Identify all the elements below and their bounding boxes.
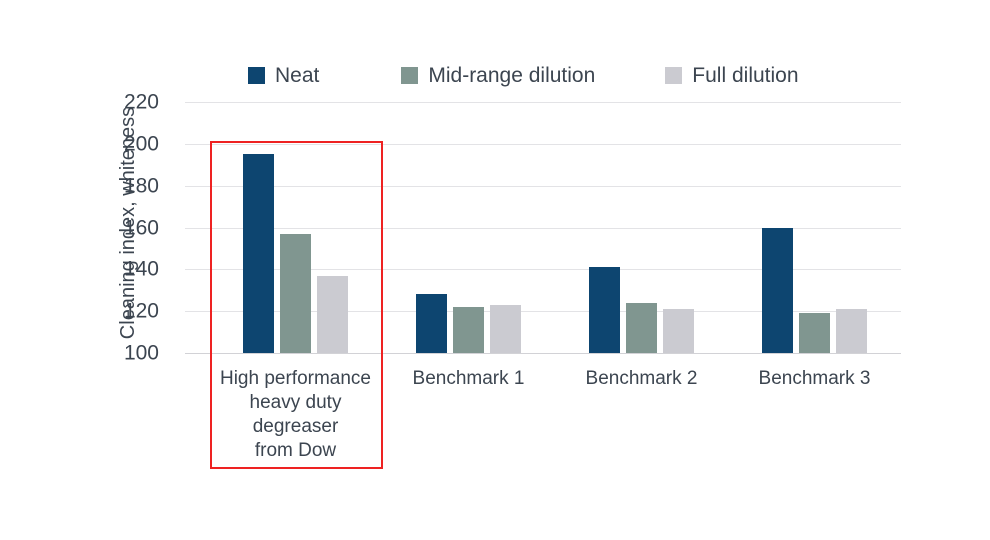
highlight-box-dow-product	[210, 141, 383, 469]
bar-neat-group-2	[416, 294, 447, 353]
bar-neat-group-3	[589, 267, 620, 353]
y-axis-title: Cleaning index, whiteness	[114, 78, 142, 368]
x-category-label-3: Benchmark 2	[547, 367, 737, 391]
x-category-label-line: Benchmark 2	[547, 367, 737, 391]
legend-label-neat: Neat	[275, 65, 319, 86]
bar-chart: Neat Mid-range dilution Full dilution Cl…	[0, 0, 990, 540]
bar-mid-range-dilution-group-2	[453, 307, 484, 353]
legend-item-neat: Neat	[248, 65, 319, 86]
x-category-label-line: Benchmark 3	[720, 367, 910, 391]
bar-full-dilution-group-4	[836, 309, 867, 353]
bar-mid-range-dilution-group-3	[626, 303, 657, 353]
chart-legend: Neat Mid-range dilution Full dilution	[248, 60, 799, 90]
x-category-label-line: Benchmark 1	[374, 367, 564, 391]
x-category-label-4: Benchmark 3	[720, 367, 910, 391]
legend-swatch-neat	[248, 67, 265, 84]
legend-swatch-mid-range-dilution	[401, 67, 418, 84]
bar-full-dilution-group-2	[490, 305, 521, 353]
bar-neat-group-4	[762, 228, 793, 354]
gridline-220	[185, 102, 901, 103]
legend-item-full-dilution: Full dilution	[665, 65, 798, 86]
bar-mid-range-dilution-group-4	[799, 313, 830, 353]
legend-swatch-full-dilution	[665, 67, 682, 84]
y-axis-tick-labels: 100120140160180200220	[0, 0, 185, 540]
x-category-label-2: Benchmark 1	[374, 367, 564, 391]
legend-label-mid-range-dilution: Mid-range dilution	[428, 65, 595, 86]
bar-full-dilution-group-3	[663, 309, 694, 353]
legend-label-full-dilution: Full dilution	[692, 65, 798, 86]
legend-item-mid-range-dilution: Mid-range dilution	[401, 65, 595, 86]
